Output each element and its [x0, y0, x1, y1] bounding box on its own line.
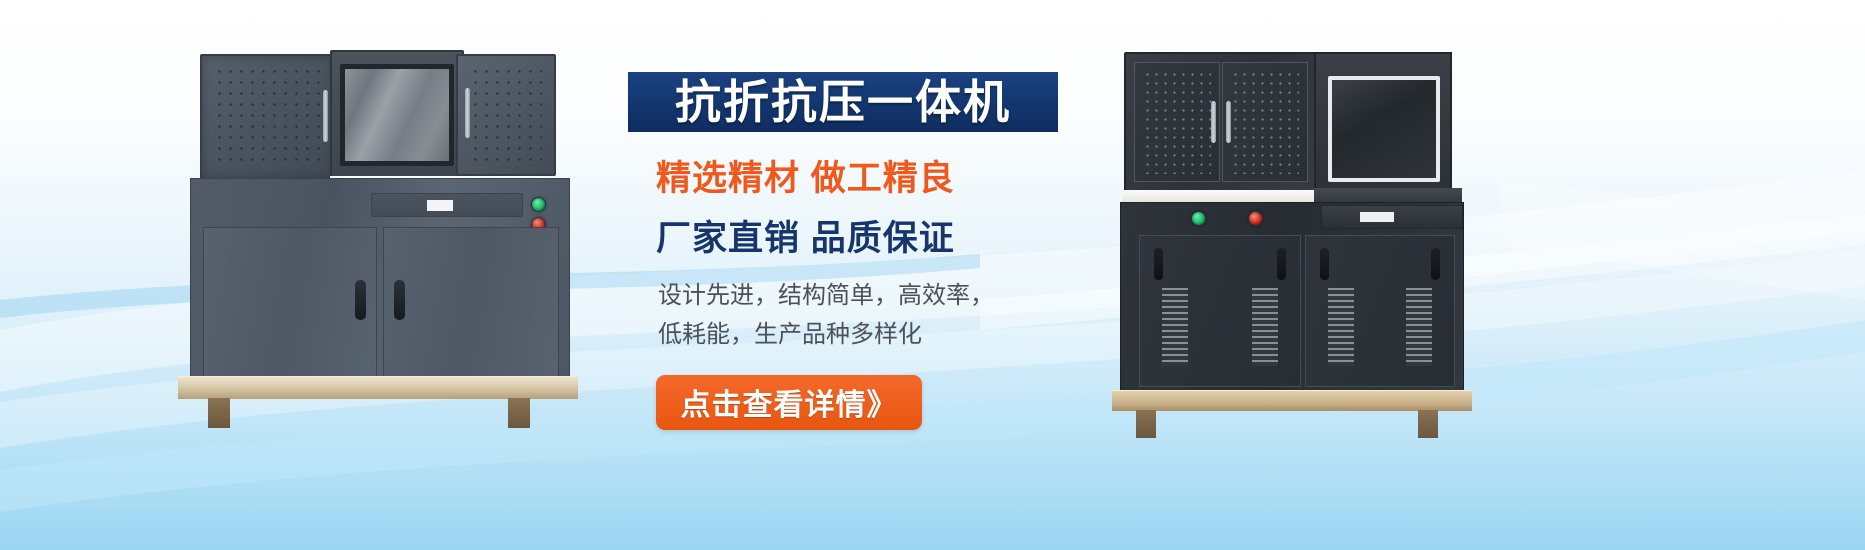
- door-handle-icon: [1431, 248, 1440, 280]
- right-machine-lower-door-right: [1305, 235, 1455, 387]
- page-title: 抗折抗压一体机: [675, 79, 1011, 125]
- ventilation-louvers: [1328, 288, 1354, 366]
- door-handle-icon: [1277, 248, 1286, 280]
- right-machine-lower-door-left: [1139, 235, 1301, 387]
- ventilation-louvers: [1406, 288, 1432, 366]
- machine-photo-left: [168, 48, 588, 423]
- right-machine-wood-pallet: [1112, 390, 1472, 411]
- right-machine-indicator-group: [1191, 211, 1274, 231]
- left-machine-upper-right-panel: [456, 54, 556, 176]
- door-handle-icon: [394, 280, 405, 320]
- perforated-grid-pattern: [470, 66, 542, 164]
- left-machine-lower-door-left: [203, 227, 377, 377]
- left-machine-screen: [340, 64, 454, 166]
- left-machine-lower-door-right: [383, 227, 559, 377]
- left-machine-label-plate: [427, 200, 453, 211]
- pallet-leg: [508, 398, 530, 428]
- right-machine-body: [1120, 202, 1464, 394]
- left-machine-control-slot: [371, 193, 523, 217]
- title-banner: 抗折抗压一体机: [628, 72, 1058, 132]
- view-details-button[interactable]: 点击查看详情》: [656, 375, 922, 430]
- left-machine-monitor-housing: [330, 50, 464, 182]
- ventilation-louvers: [1162, 288, 1188, 366]
- description-line-1: 设计先进，结构简单，高效率，: [658, 277, 1098, 316]
- pallet-leg: [1136, 410, 1156, 438]
- perforated-grid-pattern: [1231, 70, 1299, 174]
- right-machine-white-trim: [1122, 190, 1316, 202]
- right-machine-upper-cabinet: [1124, 52, 1318, 194]
- description-line-2: 低耗能，生产品种多样化: [658, 316, 1098, 355]
- pallet-leg: [1418, 410, 1438, 438]
- machine-photo-right: [1118, 42, 1498, 427]
- pallet-leg: [208, 398, 230, 428]
- door-handle-icon: [1320, 248, 1329, 280]
- right-machine-label-plate: [1360, 212, 1394, 222]
- right-machine-monitor-housing: [1314, 52, 1452, 196]
- right-machine-upper-door-right: [1222, 62, 1308, 182]
- cabinet-handle-icon: [465, 88, 470, 138]
- perforated-grid-pattern: [1143, 70, 1211, 174]
- ventilation-louvers: [1252, 288, 1278, 366]
- green-indicator-icon: [531, 197, 546, 212]
- perforated-grid-pattern: [214, 66, 322, 168]
- highlight-line-navy: 厂家直销 品质保证: [656, 210, 1098, 261]
- green-indicator-icon: [1191, 211, 1206, 226]
- highlight-line-orange: 精选精材 做工精良: [656, 150, 1098, 201]
- left-machine-body: [190, 178, 570, 380]
- left-machine-wood-pallet: [178, 376, 578, 399]
- red-indicator-icon: [1248, 211, 1263, 226]
- cabinet-handle-icon: [1226, 101, 1231, 143]
- door-handle-icon: [1154, 248, 1163, 280]
- promo-copy-block: 抗折抗压一体机 精选精材 做工精良 厂家直销 品质保证 设计先进，结构简单，高效…: [628, 72, 1098, 430]
- cabinet-handle-icon: [323, 90, 328, 142]
- cabinet-handle-icon: [1211, 101, 1216, 143]
- door-handle-icon: [355, 280, 366, 320]
- right-machine-upper-door-left: [1134, 62, 1220, 182]
- right-machine-screen: [1328, 76, 1440, 182]
- right-machine-control-slot: [1321, 205, 1463, 229]
- left-machine-upper-left-panel: [200, 54, 336, 180]
- promo-banner: 抗折抗压一体机 精选精材 做工精良 厂家直销 品质保证 设计先进，结构简单，高效…: [0, 0, 1865, 550]
